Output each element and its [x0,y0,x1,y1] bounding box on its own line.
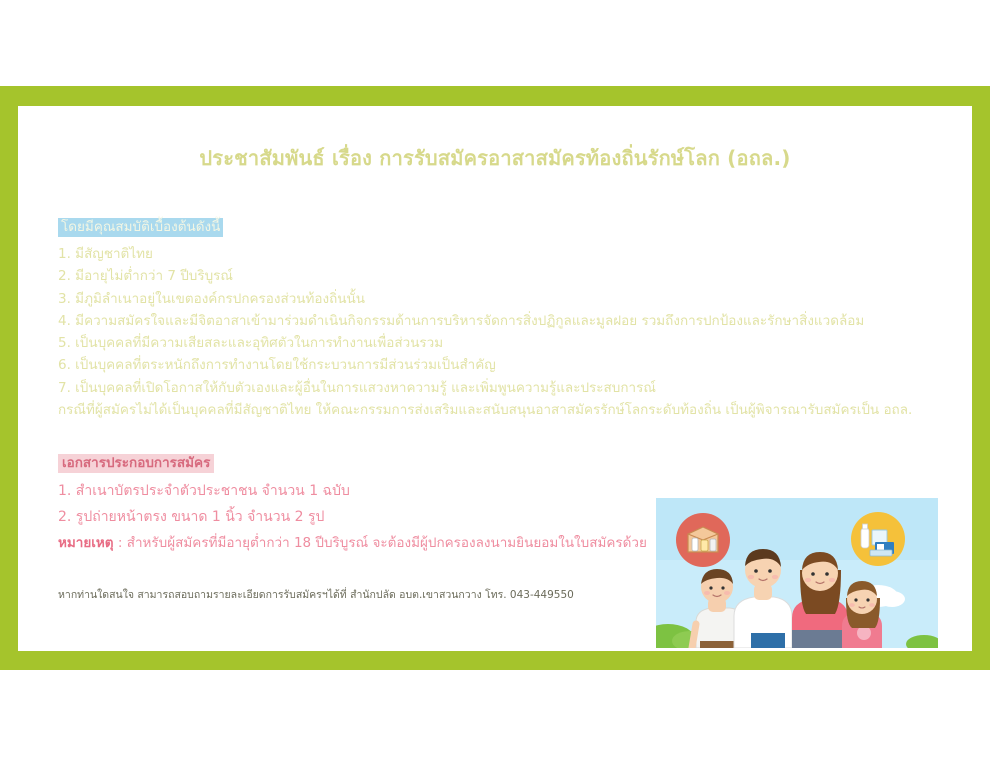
list-item: 4. มีความสมัครใจและมีจิตอาสาเข้ามาร่วมดำ… [58,310,938,332]
remark-label: หมายเหตุ [58,535,114,551]
list-item: 1. มีสัญชาติไทย [58,243,938,265]
list-item: 5. เป็นบุคคลที่มีความเสียสละและอุทิศตัวใ… [58,332,938,354]
remark-text: : สำหรับผู้สมัครที่มีอายุต่ำกว่า 18 ปีบร… [114,535,647,551]
recycle-badge-right-icon [851,512,905,566]
list-item: 6. เป็นบุคคลที่ตระหนักถึงการทำงานโดยใช้ก… [58,354,938,376]
documents-remark: หมายเหตุ : สำหรับผู้สมัครที่มีอายุต่ำกว่… [58,531,647,553]
family-recycling-illustration [656,498,938,648]
page-title: ประชาสัมพันธ์ เรื่อง การรับสมัครอาสาสมัค… [18,142,972,174]
qualifications-note: กรณีที่ผู้สมัครไม่ได้เป็นบุคคลที่มีสัญชา… [58,399,958,421]
list-item: 7. เป็นบุคคลที่เปิดโอกาสให้กับตัวเองและผ… [58,377,938,399]
contact-line: หากท่านใดสนใจ สามารถสอบถามรายละเอียดการร… [58,586,574,603]
qualifications-list: 1. มีสัญชาติไทย 2. มีอายุไม่ต่ำกว่า 7 ปี… [58,243,938,399]
documents-heading: เอกสารประกอบการสมัคร [58,454,214,473]
list-item: 2. มีอายุไม่ต่ำกว่า 7 ปีบริบูรณ์ [58,265,938,287]
documents-list: 1. สำเนาบัตรประจำตัวประชาชน จำนวน 1 ฉบับ… [58,480,658,532]
poster-white-card: ประชาสัมพันธ์ เรื่อง การรับสมัครอาสาสมัค… [18,106,972,651]
qualifications-heading: โดยมีคุณสมบัติเบื้องต้นดังนี้ [58,218,223,237]
list-item: 3. มีภูมิลำเนาอยู่ในเขตองค์กรปกครองส่วนท… [58,288,938,310]
family-girl-figure [842,581,882,648]
list-item: 2. รูปถ่ายหน้าตรง ขนาด 1 นิ้ว จำนวน 2 รู… [58,506,658,532]
list-item: 1. สำเนาบัตรประจำตัวประชาชน จำนวน 1 ฉบับ [58,480,658,506]
recycle-badge-left-icon [676,513,730,567]
poster-green-frame: ประชาสัมพันธ์ เรื่อง การรับสมัครอาสาสมัค… [0,86,990,670]
